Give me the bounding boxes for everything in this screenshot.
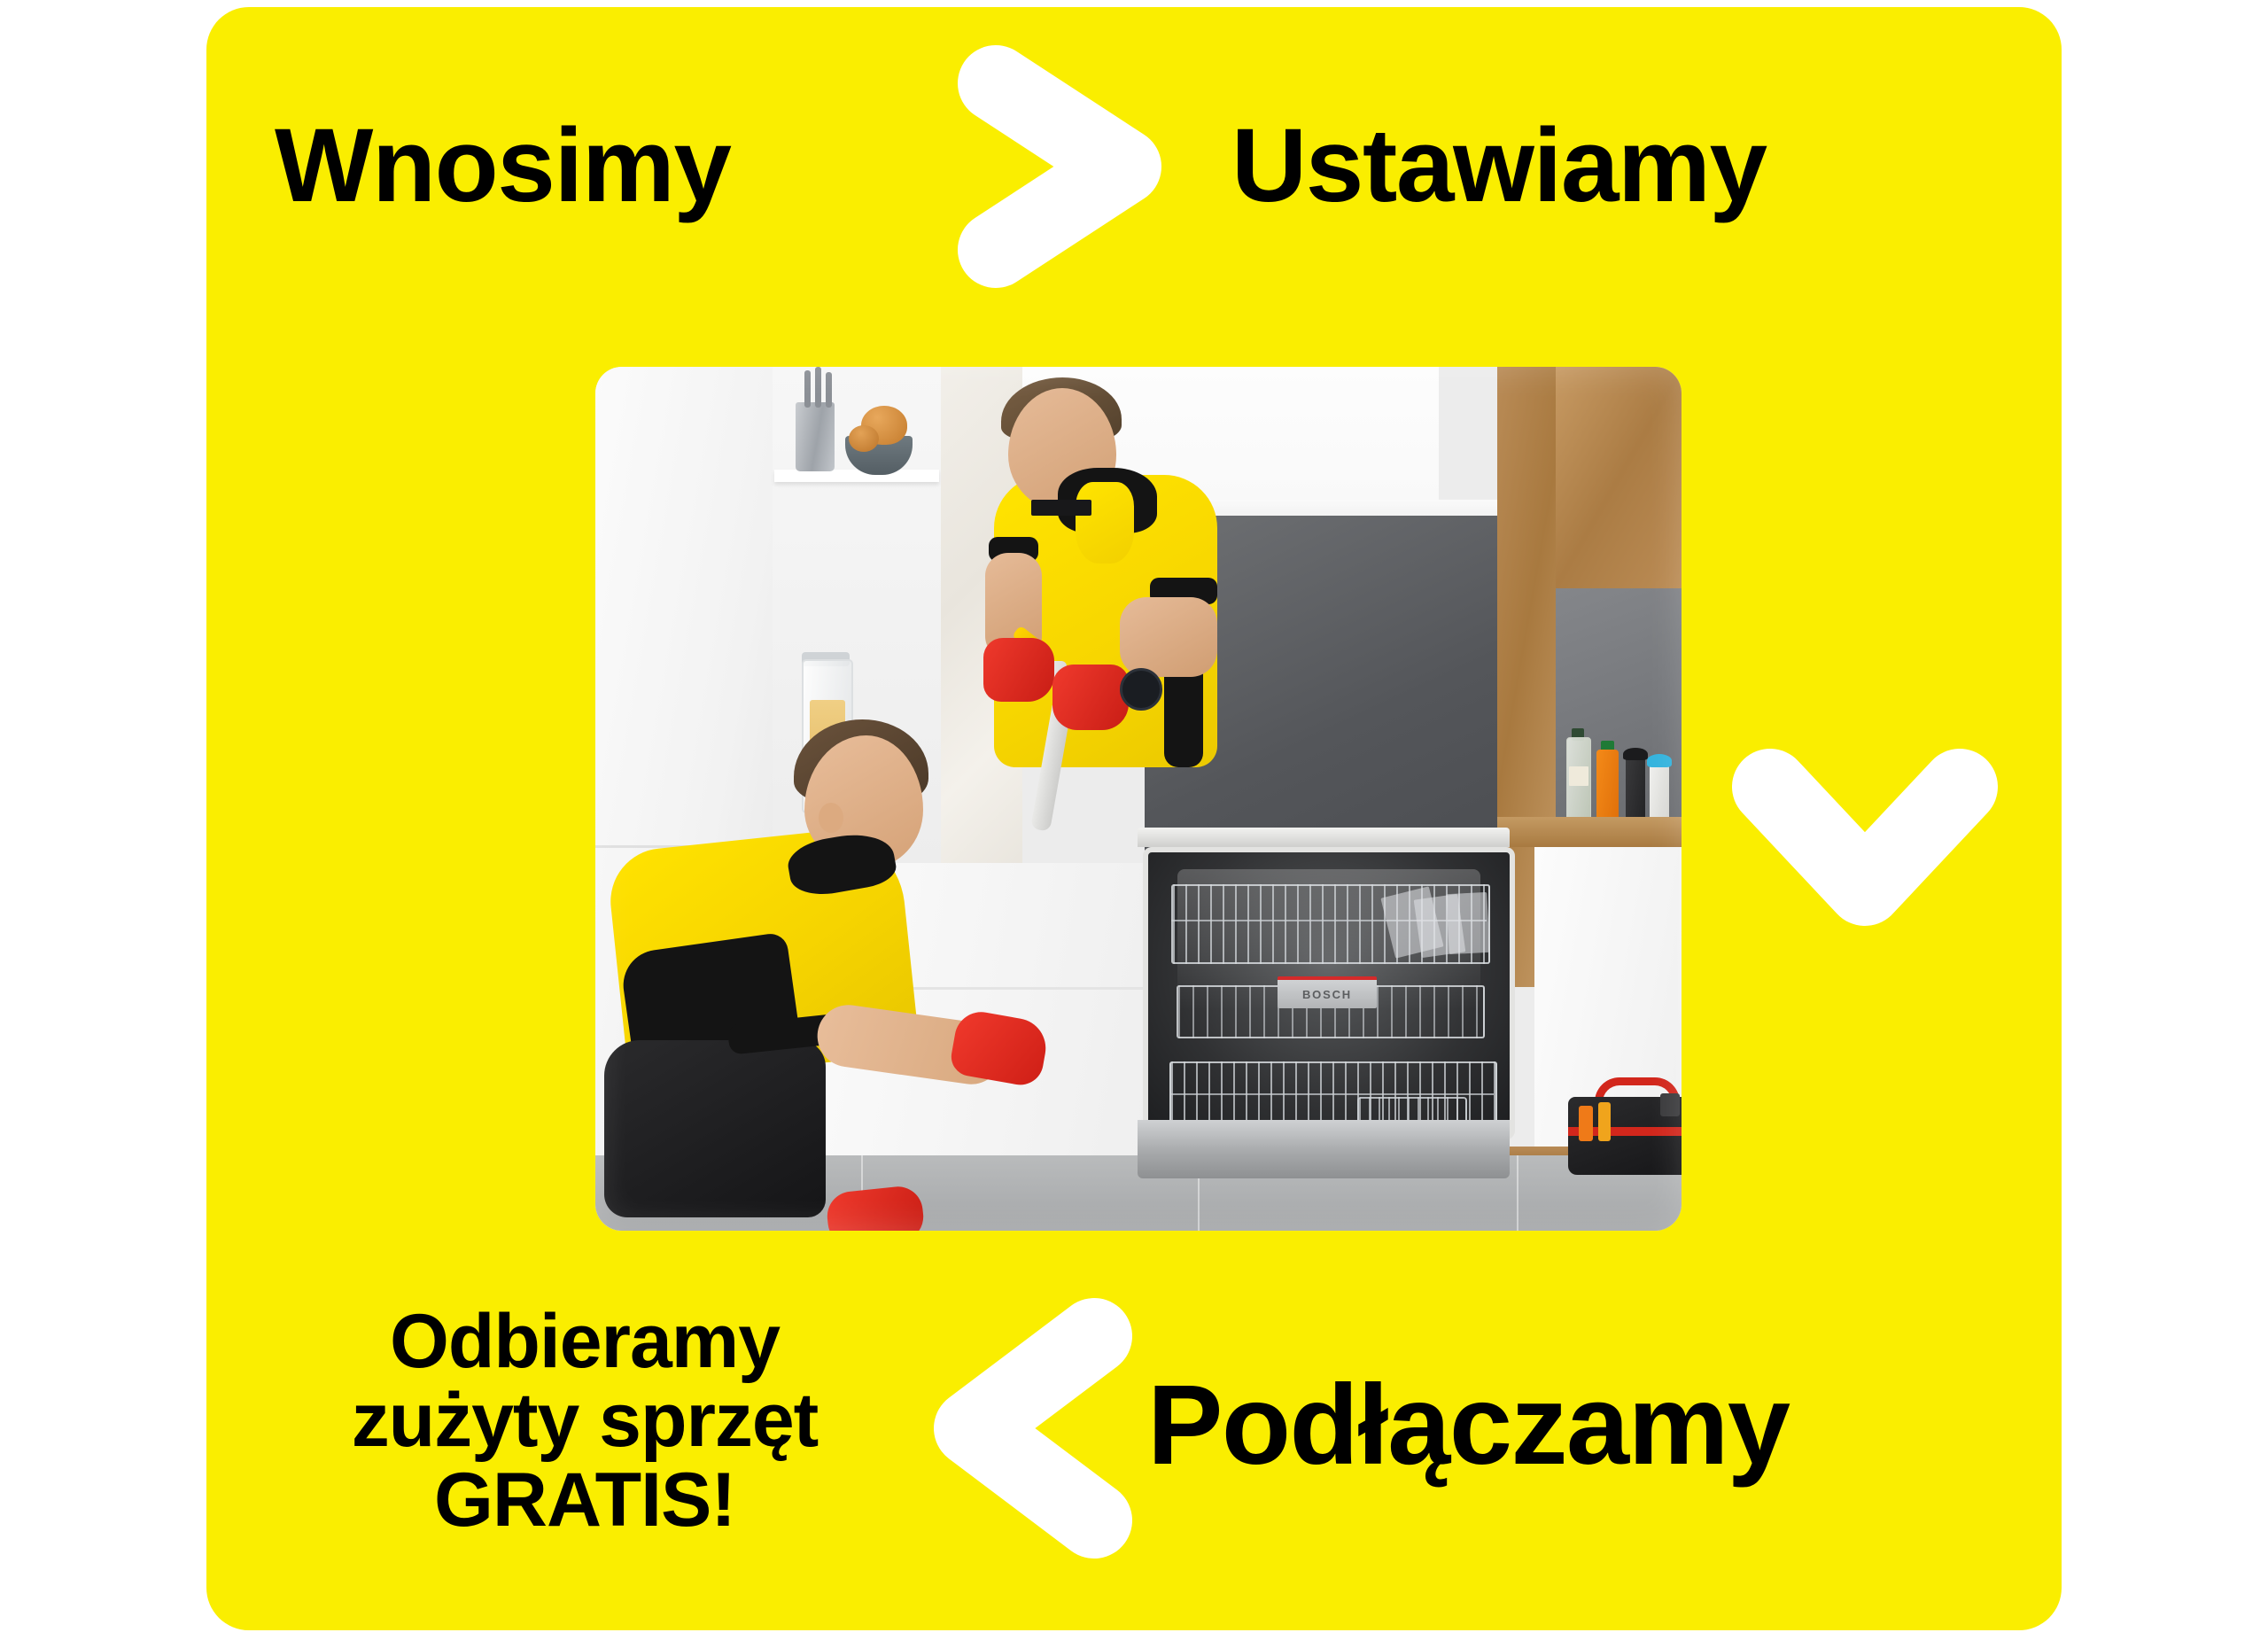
chevron-right-icon xyxy=(941,34,1180,299)
tech-left-trousers xyxy=(604,1040,826,1217)
chevron-left-icon xyxy=(917,1287,1156,1570)
utensil-holder xyxy=(796,402,835,471)
promo-banner: Wnosimy Ustawiamy Podłączamy Odbieramy z… xyxy=(0,0,2268,1648)
tech-left-glove xyxy=(825,1185,926,1231)
tech-right-glove xyxy=(1052,665,1129,730)
dishwasher: BOSCH xyxy=(1138,828,1510,1182)
photo-scene: BOSCH xyxy=(595,367,1682,1231)
tech-right-chest-logo xyxy=(1031,500,1091,516)
tool-in-bag xyxy=(1660,1093,1680,1116)
odbieramy-line-2: zużyty sprzęt xyxy=(266,1381,904,1460)
step-label-podlaczamy: Podłączamy xyxy=(1147,1369,1790,1482)
floor-grout-line xyxy=(1517,1155,1518,1231)
tool-bag xyxy=(1568,1067,1682,1175)
dishwasher-tub: BOSCH xyxy=(1143,847,1515,1139)
utensil-stick xyxy=(815,367,821,408)
gratis-badge: GRATIS! xyxy=(266,1461,904,1540)
brand-badge: BOSCH xyxy=(1278,976,1377,1008)
tool-in-bag xyxy=(1598,1102,1611,1141)
pepper-grinder xyxy=(1626,757,1645,820)
step-label-odbieramy-block: Odbieramy zużyty sprzęt GRATIS! xyxy=(266,1302,904,1540)
salt-grinder xyxy=(1650,764,1669,820)
technician-right xyxy=(946,376,1318,836)
tool-in-bag xyxy=(1579,1106,1593,1141)
plate xyxy=(1446,892,1489,954)
installation-photo: BOSCH xyxy=(595,367,1682,1231)
wristwatch xyxy=(1120,668,1162,711)
step-label-ustawiamy: Ustawiamy xyxy=(1231,113,1767,218)
bread-roll xyxy=(849,425,879,452)
wood-countertop xyxy=(1497,817,1682,847)
tech-left-ear xyxy=(819,803,843,833)
utensil-stick xyxy=(826,372,832,408)
tech-right-glove xyxy=(983,638,1054,702)
juice-bottle xyxy=(1596,750,1619,820)
odbieramy-line-1: Odbieramy xyxy=(266,1302,904,1381)
dishwasher-door xyxy=(1138,1120,1510,1178)
tech-right-arm xyxy=(1120,597,1217,677)
tech-right-placket xyxy=(1076,482,1134,564)
step-label-wnosimy: Wnosimy xyxy=(275,113,731,218)
chevron-down-icon xyxy=(1719,735,2011,975)
wood-panel-upper xyxy=(1556,367,1682,588)
shelf-plank xyxy=(774,470,939,482)
rack-crossbar xyxy=(1169,1093,1494,1095)
oil-bottle xyxy=(1566,737,1591,822)
utensil-stick xyxy=(804,370,811,408)
